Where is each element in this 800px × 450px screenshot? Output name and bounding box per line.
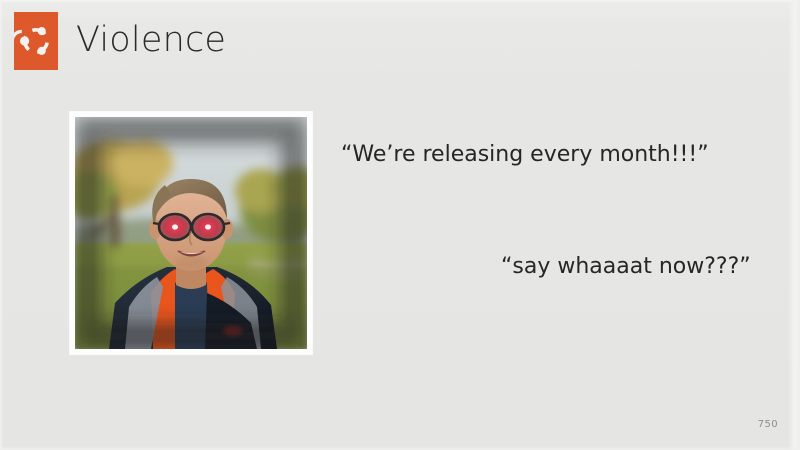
quote-releasing: “We’re releasing every month!!!” [341, 140, 709, 170]
photo-frame [70, 112, 312, 354]
quote-whaaaat: “say whaaaat now???” [501, 252, 751, 282]
presentation-slide: Violence [0, 0, 800, 450]
ubuntu-logo-icon [14, 12, 58, 70]
page-title: Violence [76, 17, 226, 63]
slide-edge-bottom [0, 446, 800, 450]
slide-header: Violence [0, 0, 800, 80]
portrait-photo [75, 117, 307, 349]
page-number: 750 [758, 419, 778, 430]
